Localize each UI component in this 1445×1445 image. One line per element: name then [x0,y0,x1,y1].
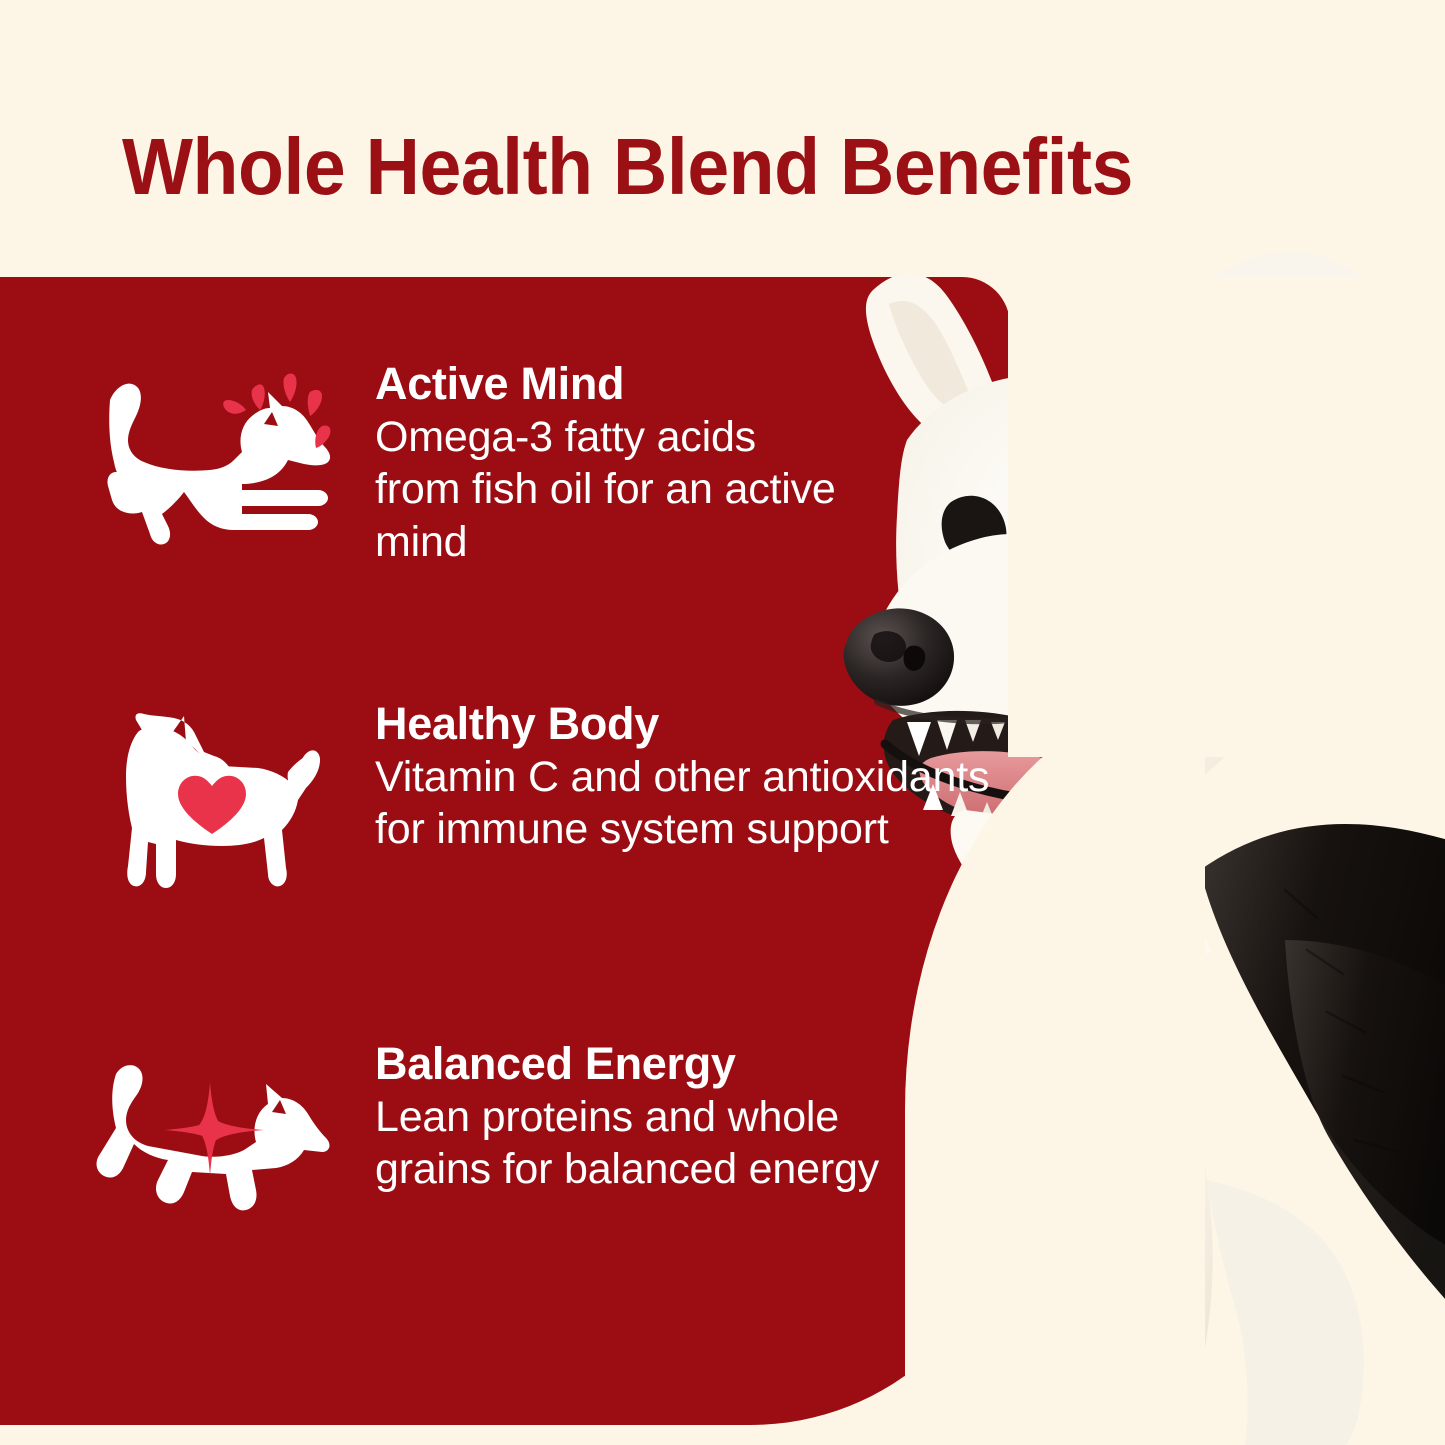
benefit-text: Healthy Body Vitamin C and other antioxi… [375,700,1035,856]
benefit-description: Vitamin C and other antioxidants for imm… [375,751,1035,856]
panel-shape-cutout-top [1008,277,1445,757]
page-title: Whole Health Blend Benefits [122,112,1109,222]
benefit-title: Healthy Body [375,700,1035,749]
dog-play-bow-sparks-icon [92,366,332,566]
dog-standing-heart-icon [92,706,332,906]
promo-graphic: Whole Health Blend Benefits [0,0,1445,1445]
benefit-text: Active Mind Omega-3 fatty acids from fis… [375,360,845,568]
dog-trotting-sparkle-icon [92,1046,332,1246]
benefit-description: Lean proteins and whole grains for balan… [375,1091,895,1196]
benefit-description: Omega-3 fatty acids from fish oil for an… [375,411,845,568]
benefit-text: Balanced Energy Lean proteins and whole … [375,1040,895,1196]
benefit-title: Balanced Energy [375,1040,895,1089]
benefit-title: Active Mind [375,360,845,409]
